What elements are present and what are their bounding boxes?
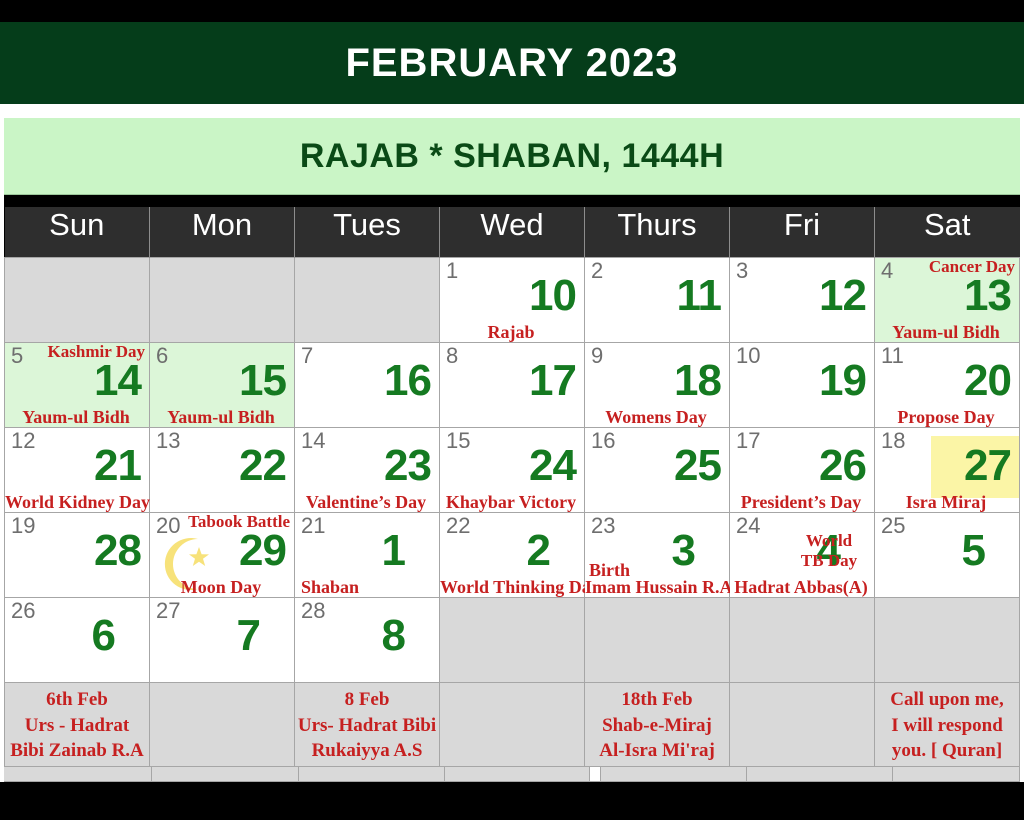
footer-note-text: 6th Feb Urs - Hadrat Bibi Zainab R.A <box>5 687 149 764</box>
event-label-top: Tabook Battle <box>188 513 290 531</box>
calendar-grid: Sun Mon Tues Wed Thurs Fri Sat 110Rajab2… <box>4 207 1020 772</box>
gregorian-date: 11 <box>881 345 904 367</box>
day-cell[interactable]: 1221World Kidney Day <box>5 428 150 513</box>
footer-note-cell: 8 Feb Urs- Hadrat Bibi Rukaiyya A.S <box>295 683 440 772</box>
day-cell[interactable]: 211Shaban <box>295 513 440 598</box>
gregorian-date: 15 <box>446 430 470 452</box>
footer-note-text: 18th Feb Shab-e-Miraj Al-Isra Mi'raj <box>585 687 729 764</box>
event-label-bottom: Womens Day <box>585 408 727 426</box>
gregorian-date: 9 <box>591 345 603 367</box>
day-cell[interactable]: 1726President’s Day <box>730 428 875 513</box>
hijri-date: 22 <box>239 444 286 488</box>
day-cell[interactable]: 1120Propose Day <box>875 343 1020 428</box>
event-label-right: World TB Day <box>790 531 868 570</box>
gregorian-date: 12 <box>11 430 35 452</box>
calendar-notes: 6th Feb Urs - Hadrat Bibi Zainab R.A8 Fe… <box>5 683 1020 772</box>
calendar-app: FEBRUARY 2023 RAJAB * SHABAN, 1444H Sun … <box>0 0 1024 820</box>
day-cell[interactable]: 413Cancer DayYaum-ul Bidh <box>875 258 1020 343</box>
footer-note-cell: 6th Feb Urs - Hadrat Bibi Zainab R.A <box>5 683 150 772</box>
hijri-date: 21 <box>94 444 141 488</box>
week-row: 110Rajab211312413Cancer DayYaum-ul Bidh <box>5 258 1020 343</box>
day-cell[interactable]: 110Rajab <box>440 258 585 343</box>
event-label-bottom: Valentine’s Day <box>295 493 437 511</box>
hijri-date: 14 <box>94 359 141 403</box>
day-cell[interactable]: 514Kashmir DayYaum-ul Bidh <box>5 343 150 428</box>
strip-seg-4 <box>445 766 591 782</box>
event-label-bottom: Yaum-ul Bidh <box>150 408 292 426</box>
strip-seg-6 <box>747 766 893 782</box>
footer-note-text: 8 Feb Urs- Hadrat Bibi Rukaiyya A.S <box>295 687 439 764</box>
hijri-date: 25 <box>674 444 721 488</box>
day-cell-empty <box>730 598 875 683</box>
day-cell[interactable]: 615Yaum-ul Bidh <box>150 343 295 428</box>
day-cell[interactable]: 288 <box>295 598 440 683</box>
week-row: 266277288 <box>5 598 1020 683</box>
gregorian-date: 5 <box>11 345 23 367</box>
hijri-date: 26 <box>819 444 866 488</box>
gregorian-date: 4 <box>881 260 893 282</box>
weekday-fri: Fri <box>730 207 875 258</box>
footer-note-cell <box>730 683 875 772</box>
day-cell-empty <box>295 258 440 343</box>
strip-seg-2 <box>152 766 299 782</box>
gregorian-date: 23 <box>591 515 615 537</box>
day-cell-empty <box>5 258 150 343</box>
hijri-date: 3 <box>672 529 695 573</box>
gregorian-date: 20 <box>156 515 180 537</box>
day-cell[interactable]: 1928 <box>5 513 150 598</box>
weekday-thurs: Thurs <box>585 207 730 258</box>
gregorian-date: 14 <box>301 430 325 452</box>
gregorian-date: 17 <box>736 430 760 452</box>
hijri-date: 28 <box>94 529 141 573</box>
month-banner: FEBRUARY 2023 <box>0 22 1024 104</box>
event-label-bottom: Shaban <box>301 578 437 596</box>
day-cell[interactable]: 266 <box>5 598 150 683</box>
hijri-date: 11 <box>676 274 721 318</box>
hijri-date: 6 <box>92 614 115 658</box>
day-cell[interactable]: 1019 <box>730 343 875 428</box>
day-cell-empty <box>875 598 1020 683</box>
gregorian-date: 18 <box>881 430 905 452</box>
day-cell[interactable]: 817 <box>440 343 585 428</box>
hijri-date: 18 <box>674 359 721 403</box>
day-cell[interactable]: 2029Tabook BattleMoon Day <box>150 513 295 598</box>
gregorian-date: 25 <box>881 515 905 537</box>
hijri-date: 2 <box>527 529 550 573</box>
gregorian-date: 2 <box>591 260 603 282</box>
event-label-bottom: Moon Day <box>150 578 292 596</box>
hijri-date: 23 <box>384 444 431 488</box>
event-label-bottom: Isra Miraj <box>875 493 1017 511</box>
day-cell[interactable]: 918Womens Day <box>585 343 730 428</box>
week-row: 514Kashmir DayYaum-ul Bidh615Yaum-ul Bid… <box>5 343 1020 428</box>
weekday-header-row: Sun Mon Tues Wed Thurs Fri Sat <box>5 207 1020 258</box>
weekday-sat: Sat <box>875 207 1020 258</box>
event-label-bottom: Khaybar Victory <box>440 493 582 511</box>
day-cell[interactable]: 1423Valentine’s Day <box>295 428 440 513</box>
gregorian-date: 10 <box>736 345 760 367</box>
hijri-banner: RAJAB * SHABAN, 1444H <box>4 118 1020 195</box>
hijri-date: 24 <box>529 444 576 488</box>
hijri-date: 27 <box>964 444 1011 488</box>
gregorian-date: 6 <box>156 345 168 367</box>
gregorian-date: 8 <box>446 345 458 367</box>
weekday-sun: Sun <box>5 207 150 258</box>
hijri-date: 8 <box>382 614 405 658</box>
day-cell[interactable]: 1322 <box>150 428 295 513</box>
event-label-top: Kashmir Day <box>48 343 145 361</box>
event-label-bottom: World Thinking Day <box>440 578 582 596</box>
event-label-top: Cancer Day <box>929 258 1015 276</box>
top-border <box>0 0 1024 22</box>
day-cell-empty <box>585 598 730 683</box>
day-cell[interactable]: 1625 <box>585 428 730 513</box>
hijri-date: 15 <box>239 359 286 403</box>
day-cell[interactable]: 255 <box>875 513 1020 598</box>
day-cell[interactable]: 1524Khaybar Victory <box>440 428 585 513</box>
hijri-date: 17 <box>529 359 576 403</box>
gregorian-date: 19 <box>11 515 35 537</box>
footer-note-text: Call upon me, I will respond you. [ Qura… <box>875 687 1019 764</box>
event-label-bottom: World Kidney Day <box>5 493 147 511</box>
hijri-date: 13 <box>964 274 1011 318</box>
day-cell[interactable]: 1827Isra Miraj <box>875 428 1020 513</box>
day-cell[interactable]: 312 <box>730 258 875 343</box>
day-cell[interactable]: 277 <box>150 598 295 683</box>
weekday-mon: Mon <box>150 207 295 258</box>
hijri-date: 20 <box>964 359 1011 403</box>
strip-seg-3 <box>299 766 445 782</box>
gregorian-date: 26 <box>11 600 35 622</box>
event-label-bottom: Imam Hussain R.A <box>585 578 727 596</box>
footer-note-cell <box>150 683 295 772</box>
week-row: 1221World Kidney Day13221423Valentine’s … <box>5 428 1020 513</box>
day-cell[interactable]: 233BirthImam Hussain R.A <box>585 513 730 598</box>
strip-seg-5 <box>601 766 747 782</box>
gregorian-date: 7 <box>301 345 313 367</box>
strip-seg-gap <box>590 766 601 782</box>
gregorian-date: 3 <box>736 260 748 282</box>
event-label-bottom: Rajab <box>440 323 582 341</box>
event-label-bottom: President’s Day <box>730 493 872 511</box>
bottom-strip <box>4 766 1020 780</box>
gregorian-date: 22 <box>446 515 470 537</box>
gregorian-date: 1 <box>446 260 458 282</box>
day-cell[interactable]: 716 <box>295 343 440 428</box>
hijri-date: 29 <box>239 529 286 573</box>
hijri-date: 5 <box>962 529 985 573</box>
gregorian-date: 21 <box>301 515 325 537</box>
day-cell[interactable]: 222World Thinking Day <box>440 513 585 598</box>
week-row: 19282029Tabook BattleMoon Day211Shaban22… <box>5 513 1020 598</box>
event-label-bottom: Yaum-ul Bidh <box>5 408 147 426</box>
day-cell[interactable]: 244World TB DayHadrat Abbas(A) <box>730 513 875 598</box>
weekday-wed: Wed <box>440 207 585 258</box>
strip-seg-7 <box>893 766 1020 782</box>
gregorian-date: 24 <box>736 515 760 537</box>
hijri-date: 12 <box>819 274 866 318</box>
hijri-date: 1 <box>382 529 405 573</box>
day-cell-empty <box>440 598 585 683</box>
footer-note-row: 6th Feb Urs - Hadrat Bibi Zainab R.A8 Fe… <box>5 683 1020 772</box>
footer-note-cell: Call upon me, I will respond you. [ Qura… <box>875 683 1020 772</box>
event-label-bottom: Yaum-ul Bidh <box>875 323 1017 341</box>
right-edge <box>1020 104 1024 782</box>
banner-gap <box>0 104 1024 118</box>
footer-note-cell <box>440 683 585 772</box>
weekday-tues: Tues <box>295 207 440 258</box>
bottom-border <box>0 782 1024 820</box>
day-cell[interactable]: 211 <box>585 258 730 343</box>
day-cell-empty <box>150 258 295 343</box>
event-label-bottom: Propose Day <box>875 408 1017 426</box>
gregorian-date: 16 <box>591 430 615 452</box>
gregorian-date: 27 <box>156 600 180 622</box>
strip-seg-1 <box>4 766 152 782</box>
hijri-date: 16 <box>384 359 431 403</box>
calendar-body: 110Rajab211312413Cancer DayYaum-ul Bidh5… <box>5 258 1020 683</box>
month-title: FEBRUARY 2023 <box>345 41 678 86</box>
hijri-date: 19 <box>819 359 866 403</box>
hijri-title: RAJAB * SHABAN, 1444H <box>300 137 724 176</box>
hijri-date: 7 <box>237 614 260 658</box>
hijri-date: 10 <box>529 274 576 318</box>
event-label-bottom: Hadrat Abbas(A) <box>730 578 872 596</box>
gregorian-date: 28 <box>301 600 325 622</box>
gregorian-date: 13 <box>156 430 180 452</box>
footer-note-cell: 18th Feb Shab-e-Miraj Al-Isra Mi'raj <box>585 683 730 772</box>
